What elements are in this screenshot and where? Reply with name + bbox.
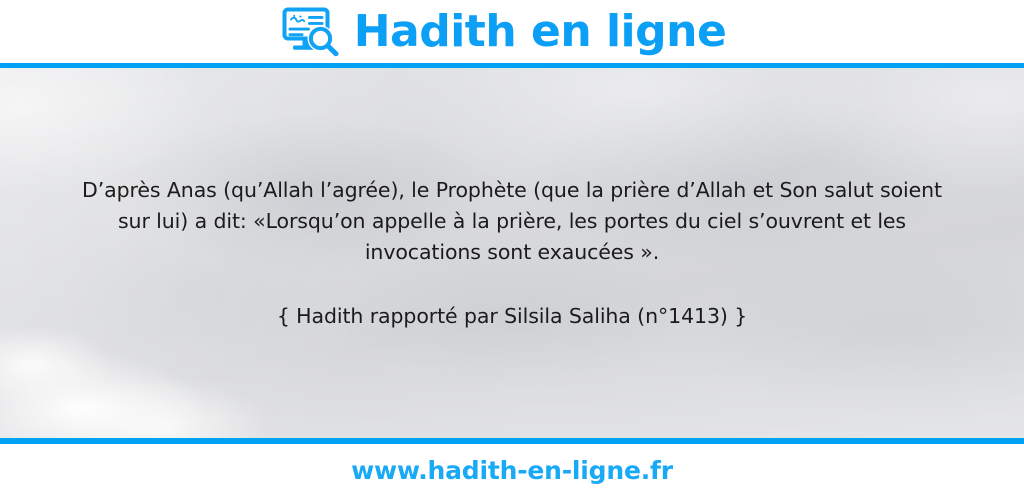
screen-search-icon	[282, 7, 340, 57]
page-footer: www.hadith-en-ligne.fr	[0, 444, 1024, 497]
site-title: Hadith en ligne	[354, 10, 727, 54]
hadith-source: { Hadith rapporté par Silsila Saliha (n°…	[72, 301, 952, 331]
quote-body: D’après Anas (qu’Allah l’agrée), le Prop…	[0, 68, 1024, 438]
page-header: Hadith en ligne	[0, 0, 1024, 63]
quote-content: D’après Anas (qu’Allah l’agrée), le Prop…	[0, 68, 1024, 438]
brand: Hadith en ligne	[282, 7, 727, 57]
hadith-quote-card: Hadith en ligne D’après Anas (qu’Allah l…	[0, 0, 1024, 497]
website-url-link[interactable]: www.hadith-en-ligne.fr	[351, 458, 673, 483]
hadith-text: D’après Anas (qu’Allah l’agrée), le Prop…	[72, 175, 952, 268]
